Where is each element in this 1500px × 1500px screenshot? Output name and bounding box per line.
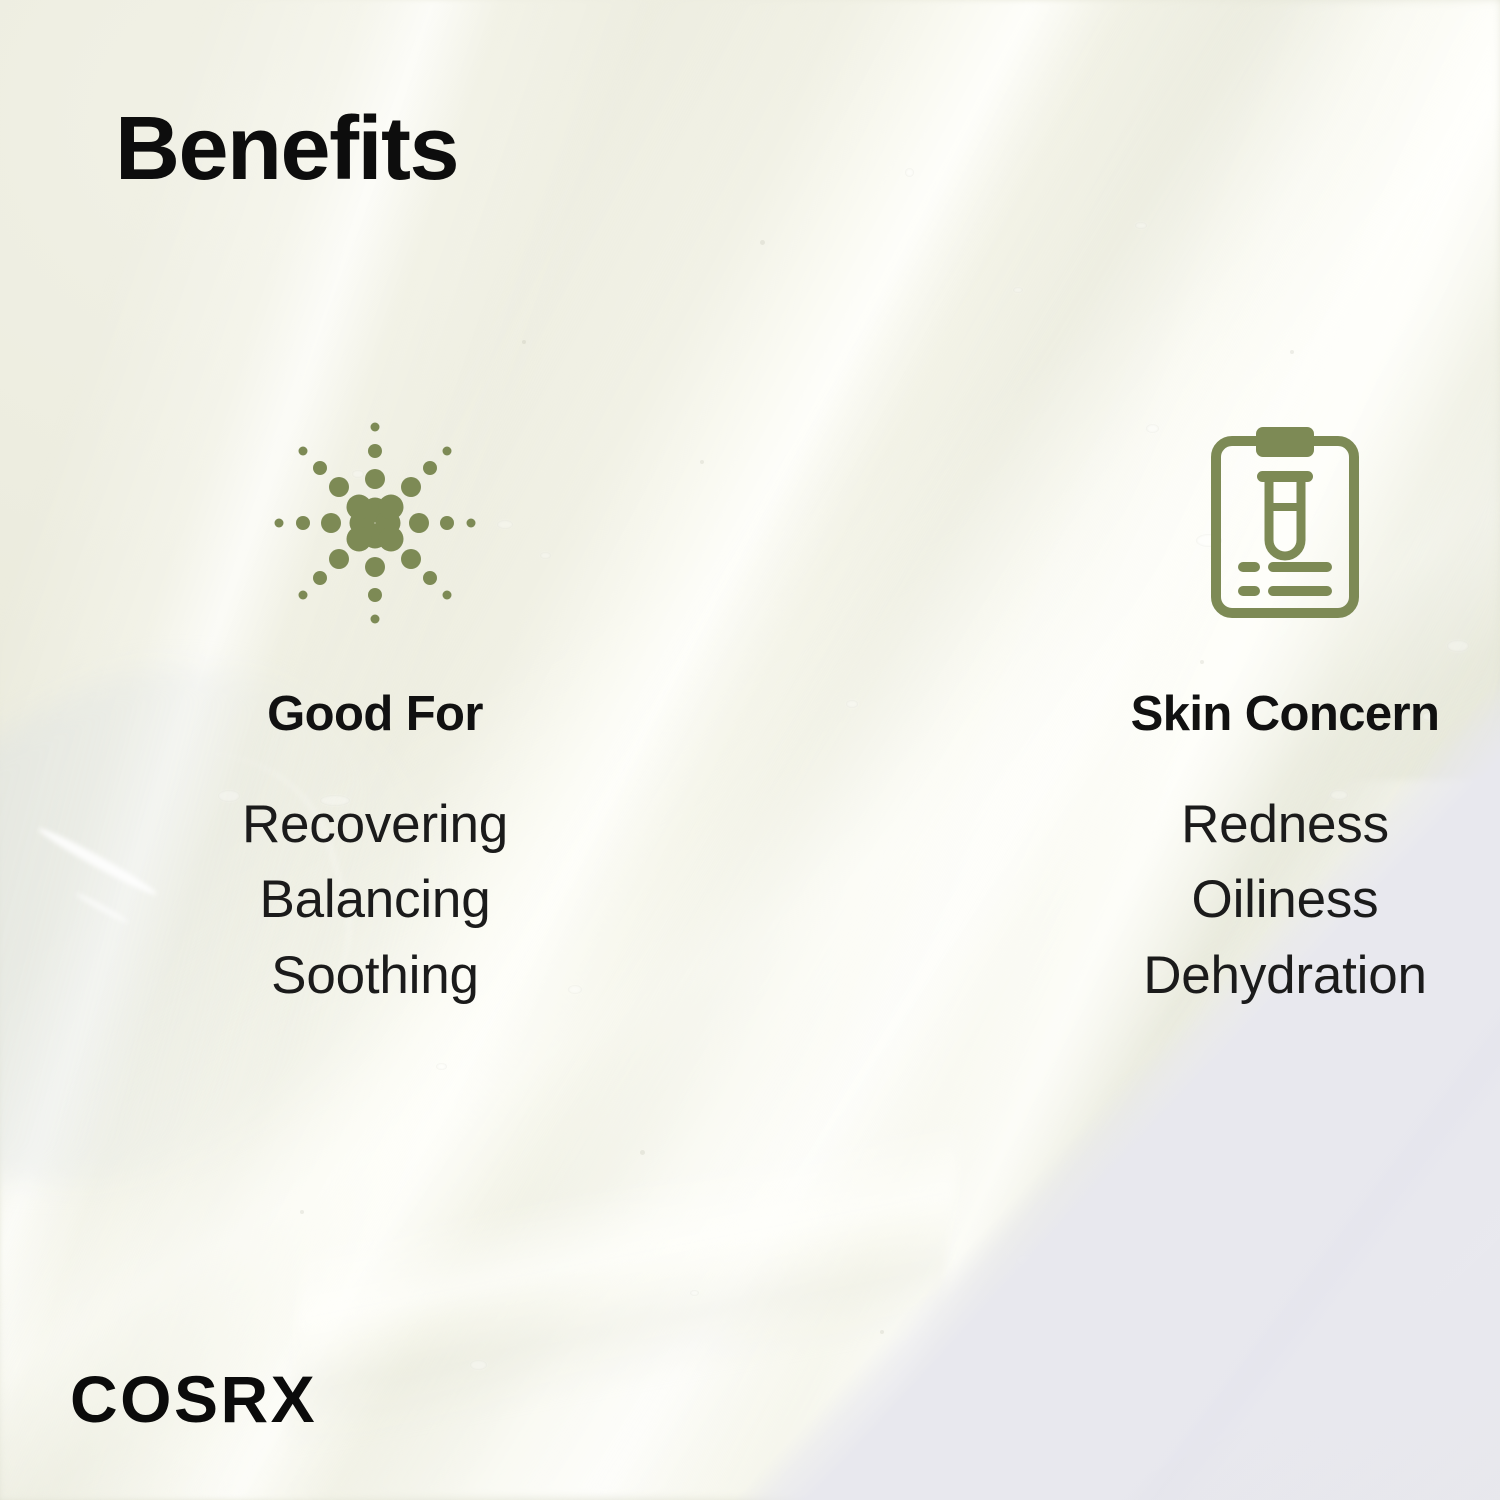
skin-concern-heading: Skin Concern (1131, 690, 1440, 739)
benefits-columns: Good For Recovering Balancing Soothing (0, 418, 1500, 1029)
list-item: Dehydration (1143, 938, 1427, 1013)
skin-concern-list: Redness Oiliness Dehydration (1143, 787, 1427, 1013)
good-for-list: Recovering Balancing Soothing (242, 787, 508, 1013)
benefit-column-skin-concern: Skin Concern Redness Oiliness Dehydratio… (838, 418, 1500, 1029)
good-for-icon-wrap (275, 418, 475, 628)
list-item: Recovering (242, 787, 508, 862)
clipboard-test-tube-icon (1207, 423, 1363, 623)
skin-concern-icon-wrap (1207, 418, 1363, 628)
list-item: Balancing (242, 862, 508, 937)
list-item: Redness (1143, 787, 1427, 862)
content-layer: Benefits (0, 0, 1500, 1500)
page-title: Benefits (115, 104, 458, 194)
sparkle-icon (275, 423, 475, 623)
good-for-heading: Good For (267, 690, 483, 739)
brand-logo-cosrx: COSRX (70, 1366, 317, 1432)
list-item: Oiliness (1143, 862, 1427, 937)
product-benefits-graphic: Benefits (0, 0, 1500, 1500)
benefit-column-good-for: Good For Recovering Balancing Soothing (0, 418, 838, 1029)
list-item: Soothing (242, 938, 508, 1013)
